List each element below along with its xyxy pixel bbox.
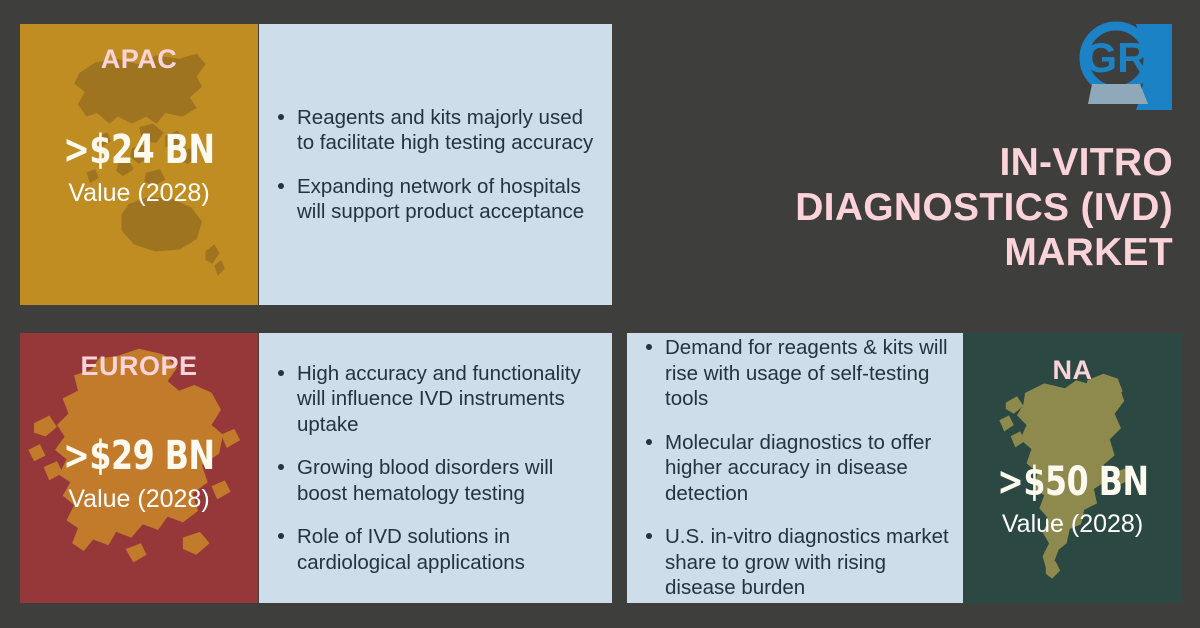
bullet-dot-icon: [646, 439, 652, 445]
list-item: Reagents and kits majorly used to facili…: [297, 105, 598, 156]
region-panel-apac: APAC >$24 BN Value (2028): [20, 24, 258, 305]
bullet-panel-na: Demand for reagents & kits will rise wit…: [627, 333, 963, 603]
bullet-text: Expanding network of hospitals will supp…: [297, 175, 584, 224]
bullet-dot-icon: [278, 533, 284, 539]
list-item: High accuracy and functionality will inf…: [297, 361, 598, 438]
bullet-panel-europe: High accuracy and functionality will inf…: [259, 333, 612, 603]
bullet-dot-icon: [278, 370, 284, 376]
gmi-logo: GR: [1074, 18, 1178, 116]
bullet-text: High accuracy and functionality will inf…: [297, 362, 581, 436]
bullet-text: Molecular diagnostics to offer higher ac…: [665, 431, 931, 505]
bullet-dot-icon: [646, 533, 652, 539]
page-title-line-2: DIAGNOSTICS (IVD): [733, 185, 1173, 230]
bullet-text: Role of IVD solutions in cardiological a…: [297, 525, 525, 574]
page-title-line-1: IN-VITRO: [733, 140, 1173, 185]
region-name-apac: APAC: [101, 46, 178, 73]
list-item: Role of IVD solutions in cardiological a…: [297, 524, 598, 575]
logo-letters: GR: [1085, 34, 1148, 81]
logo-base-shape: [1088, 84, 1148, 104]
list-item: U.S. in-vitro diagnostics market share t…: [665, 524, 949, 601]
region-panel-na: NA >$50 BN Value (2028): [963, 333, 1182, 603]
list-item: Expanding network of hospitals will supp…: [297, 174, 598, 225]
list-item: Growing blood disorders will boost hemat…: [297, 455, 598, 506]
region-value-apac: >$24 BN: [63, 130, 214, 170]
bullet-dot-icon: [278, 464, 284, 470]
list-item: Molecular diagnostics to offer higher ac…: [665, 430, 949, 507]
bullet-list-na: Demand for reagents & kits will rise wit…: [627, 335, 963, 601]
page-title: IN-VITRO DIAGNOSTICS (IVD) MARKET: [733, 140, 1173, 275]
bullet-list-europe: High accuracy and functionality will inf…: [259, 361, 612, 576]
region-caption-apac: Value (2028): [68, 181, 209, 206]
bullet-text: U.S. in-vitro diagnostics market share t…: [665, 525, 949, 599]
bullet-dot-icon: [278, 114, 284, 120]
region-value-na: >$50 BN: [997, 462, 1148, 502]
list-item: Demand for reagents & kits will rise wit…: [665, 335, 949, 412]
bullet-dot-icon: [278, 183, 284, 189]
region-caption-europe: Value (2028): [68, 487, 209, 512]
region-name-europe: EUROPE: [80, 353, 197, 380]
region-name-na: NA: [1053, 357, 1093, 384]
region-caption-na: Value (2028): [1002, 512, 1143, 537]
bullet-text: Reagents and kits majorly used to facili…: [297, 106, 593, 155]
region-panel-europe: EUROPE >$29 BN Value (2028): [20, 333, 258, 603]
bullet-text: Demand for reagents & kits will rise wit…: [665, 336, 948, 410]
page-title-line-3: MARKET: [733, 230, 1173, 275]
bullet-dot-icon: [646, 344, 652, 350]
bullet-text: Growing blood disorders will boost hemat…: [297, 456, 553, 505]
region-value-europe: >$29 BN: [63, 436, 214, 476]
bullet-list-apac: Reagents and kits majorly used to facili…: [259, 105, 612, 225]
bullet-panel-apac: Reagents and kits majorly used to facili…: [259, 24, 612, 305]
